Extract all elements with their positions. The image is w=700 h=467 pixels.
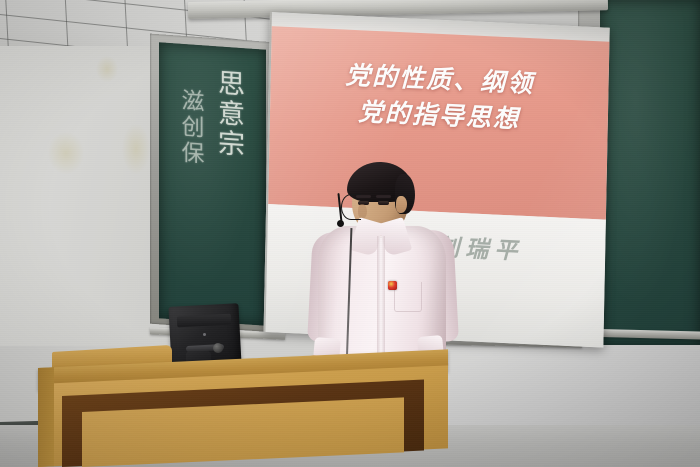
lecture-hall-photo: 思意宗 滋创保 党的性质、纲领 党的指导思想 主讲：刘瑞平: [0, 0, 700, 467]
chalk-writing-left-secondary: 滋创保: [173, 87, 207, 167]
headset-microphone-band: [341, 194, 361, 220]
monitor-badge-dot: [203, 333, 206, 336]
blackboard-right-panel: [600, 0, 700, 345]
eyebrow-right: [376, 195, 391, 198]
chalk-writing-left: 思意宗: [209, 68, 248, 161]
lectern: [38, 338, 448, 467]
headset-microphone-capsule: [337, 220, 344, 227]
blackboard-left-panel: 思意宗 滋创保: [159, 42, 266, 325]
projection-screen-housing: [188, 0, 608, 19]
lectern-side-panel: [38, 367, 54, 467]
blackboard-left: 思意宗 滋创保: [150, 38, 275, 328]
shirt-pocket: [394, 282, 422, 312]
party-emblem-badge: [388, 281, 397, 290]
eye-right: [378, 201, 389, 205]
